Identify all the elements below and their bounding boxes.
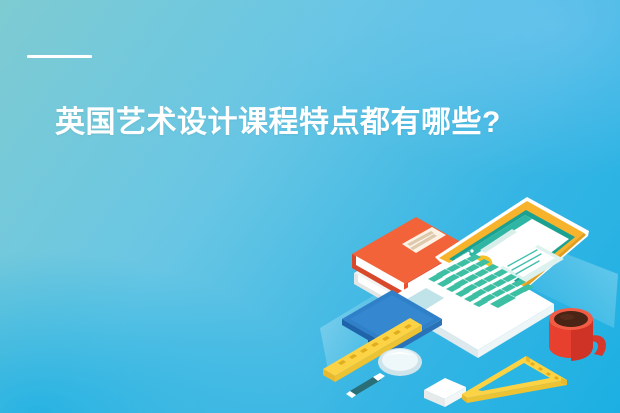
- page-title: 英国艺术设计课程特点都有哪些?: [55, 104, 501, 142]
- eraser: [424, 378, 466, 407]
- isometric-study-illustration: [318, 178, 620, 413]
- banner: 英国艺术设计课程特点都有哪些?: [0, 0, 620, 413]
- triangle-ruler: [462, 356, 567, 403]
- title-accent-rule: [27, 55, 92, 58]
